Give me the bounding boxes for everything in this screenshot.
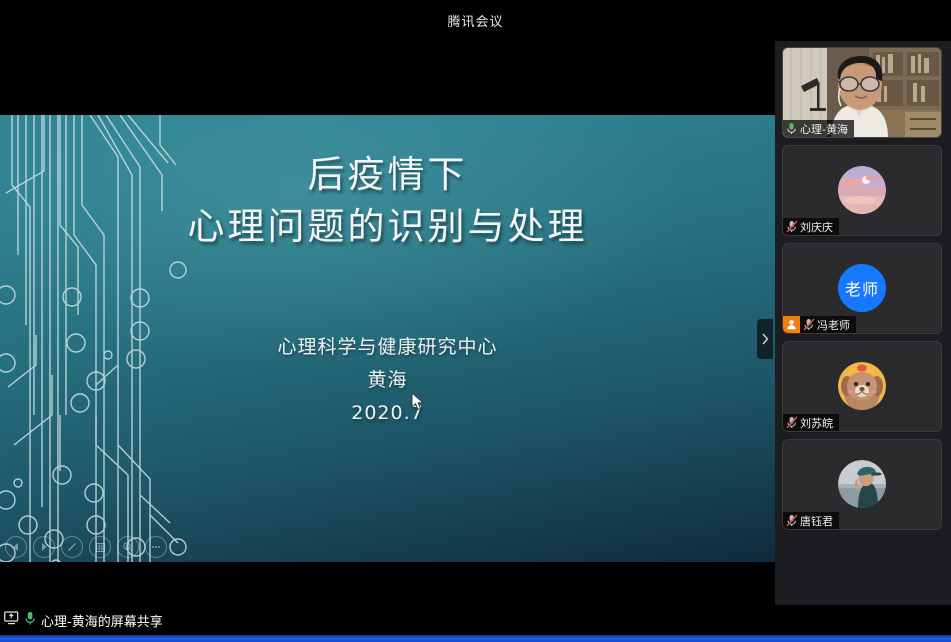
zoom-button[interactable] (117, 536, 139, 558)
participant-name-bar: 唐钰君 (783, 512, 839, 529)
participant-tile[interactable]: 心理-黄海 (782, 47, 942, 138)
microphone-muted-icon (783, 512, 800, 529)
microphone-on-icon (24, 611, 36, 630)
tencent-meeting-window: 腾讯会议 (0, 0, 951, 642)
monitor-share-icon (4, 611, 19, 629)
previous-slide-button[interactable] (5, 536, 27, 558)
slide-subtitle: 心理科学与健康研究中心 黄海 2020.7 (0, 331, 775, 430)
window-title-bar: 腾讯会议 (0, 0, 951, 41)
slide-subtitle-date: 2020.7 (0, 397, 775, 430)
windows-taskbar-strip (0, 635, 951, 642)
shared-screen-stage[interactable]: 后疫情下 心理问题的识别与处理 心理科学与健康研究中心 黄海 2020.7 (0, 41, 775, 605)
slide-title-line-1: 后疫情下 (308, 153, 468, 196)
participant-name-bar: 刘苏皖 (783, 414, 839, 431)
mouse-cursor (411, 392, 425, 412)
microphone-muted-icon (783, 218, 800, 235)
participant-name-bar: 心理-黄海 (783, 120, 854, 137)
more-options-button[interactable] (145, 536, 167, 558)
slide-title-line-2: 心理问题的识别与处理 (0, 201, 775, 253)
participant-name-bar: 冯老师 (783, 316, 856, 333)
participant-tile[interactable]: 刘庆庆 (782, 145, 942, 236)
microphone-on-icon (783, 120, 800, 137)
screen-share-status-text: 心理-黄海的屏幕共享 (41, 611, 163, 630)
participant-name: 刘苏皖 (800, 415, 833, 431)
collapse-participants-panel-button[interactable] (757, 319, 773, 359)
avatar (838, 460, 886, 508)
avatar: 老师 (838, 264, 886, 312)
presentation-slide: 后疫情下 心理问题的识别与处理 心理科学与健康研究中心 黄海 2020.7 (0, 115, 775, 562)
slide-subtitle-org: 心理科学与健康研究中心 (0, 331, 775, 364)
participant-tile[interactable]: 唐钰君 (782, 439, 942, 530)
participant-name-bar: 刘庆庆 (783, 218, 839, 235)
microphone-muted-icon (783, 414, 800, 431)
participant-name: 刘庆庆 (800, 219, 833, 235)
avatar (838, 166, 886, 214)
slide-title: 后疫情下 心理问题的识别与处理 (0, 149, 775, 253)
participant-tile[interactable]: 刘苏皖 (782, 341, 942, 432)
host-person-icon (783, 316, 800, 333)
pen-tool-button[interactable] (61, 536, 83, 558)
avatar-initials: 老师 (845, 276, 879, 300)
participants-panel[interactable]: 心理-黄海 (775, 41, 951, 605)
avatar (838, 362, 886, 410)
participant-name: 冯老师 (817, 317, 850, 333)
powerpoint-slideshow-toolbar[interactable] (5, 536, 167, 558)
screen-share-status-bar: 心理-黄海的屏幕共享 (0, 605, 951, 635)
participant-name: 心理-黄海 (800, 121, 848, 137)
slide-subtitle-author: 黄海 (0, 364, 775, 397)
next-slide-button[interactable] (33, 536, 55, 558)
microphone-muted-icon (800, 316, 817, 333)
participant-name: 唐钰君 (800, 513, 833, 529)
all-slides-button[interactable] (89, 536, 111, 558)
chevron-right-icon (761, 333, 769, 345)
participant-tile[interactable]: 老师 冯老师 (782, 243, 942, 334)
app-title: 腾讯会议 (447, 11, 503, 30)
